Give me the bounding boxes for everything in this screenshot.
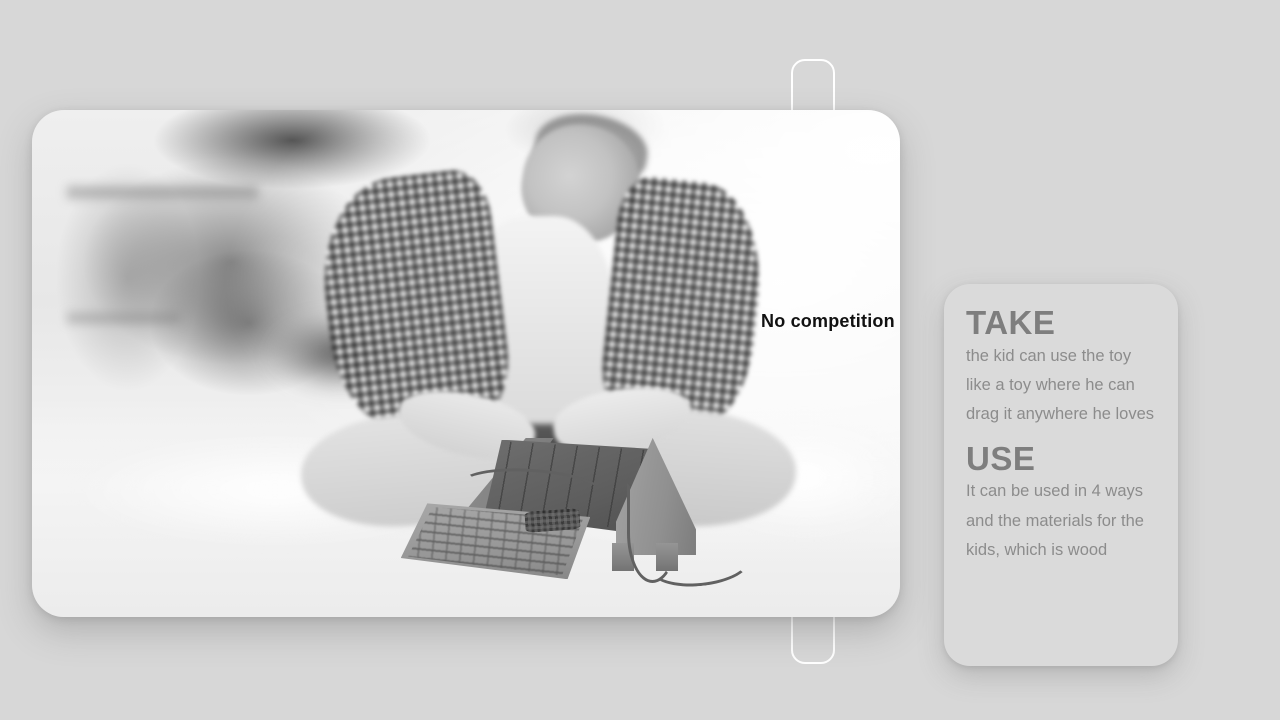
info-heading-use: USE	[966, 442, 1158, 476]
info-block-use: USE It can be used in 4 ways and the mat…	[966, 442, 1158, 566]
info-block-take: TAKE the kid can use the toy like a toy …	[966, 306, 1158, 430]
info-body-take: the kid can use the toy like a toy where…	[966, 342, 1158, 430]
photo-card[interactable]: No competition Simple to use 4 different…	[32, 110, 900, 617]
info-body-use: It can be used in 4 ways and the materia…	[966, 477, 1158, 565]
photo-image	[32, 110, 900, 617]
info-panel[interactable]: TAKE the kid can use the toy like a toy …	[944, 284, 1178, 666]
wooden-toy	[423, 434, 788, 606]
info-heading-take: TAKE	[966, 306, 1158, 340]
label-no-competition: No competition	[761, 311, 895, 332]
slide-canvas: No competition Simple to use 4 different…	[0, 0, 1280, 720]
toy-cord-trailing	[647, 536, 753, 591]
toy-fabric-pouch	[524, 508, 580, 532]
